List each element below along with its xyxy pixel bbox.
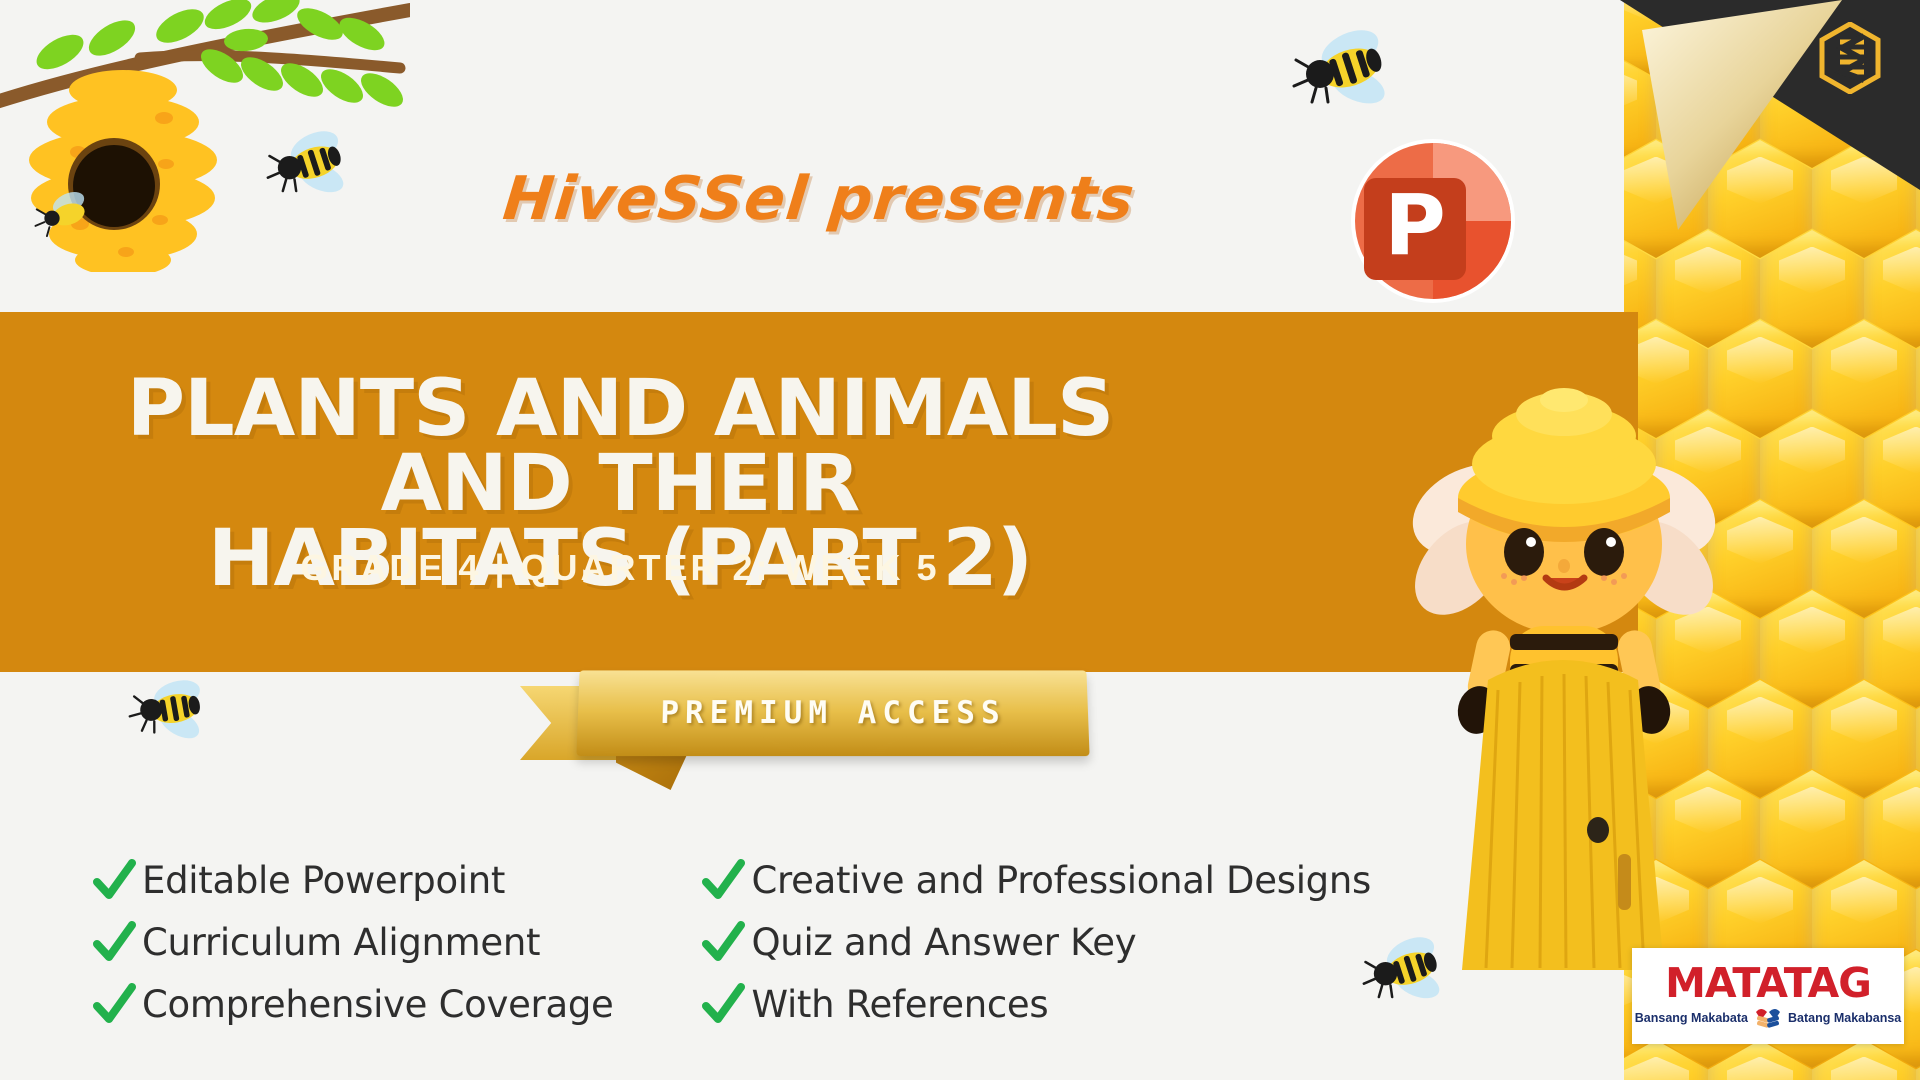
feature-label: Creative and Professional Designs: [751, 859, 1371, 902]
feature-list: Editable Powerpoint Curriculum Alignment…: [92, 858, 1512, 1026]
matatag-logo: MATATAG Bansang Makabata Batang Makabans…: [1632, 948, 1904, 1044]
flying-bee-icon: [24, 186, 94, 248]
title-band: HiveSSel presents PLANTS AND ANIMALS AND…: [0, 312, 1638, 672]
feature-label: Curriculum Alignment: [142, 921, 540, 964]
check-icon: [92, 858, 136, 902]
feature-label: Editable Powerpoint: [142, 859, 505, 902]
check-icon: [92, 982, 136, 1026]
feature-column-right: Creative and Professional Designs Quiz a…: [701, 858, 1371, 1026]
matatag-wordmark: MATATAG: [1665, 963, 1871, 1004]
matatag-tagline-left: Bansang Makabata: [1635, 1011, 1748, 1025]
hexagon-s-logo-icon: [1818, 22, 1882, 94]
list-item: Curriculum Alignment: [92, 920, 613, 964]
check-icon: [701, 858, 745, 902]
ribbon-label: PREMIUM ACCESS: [576, 670, 1089, 756]
premium-access-ribbon: PREMIUM ACCESS: [520, 660, 1120, 790]
powerpoint-letter: P: [1384, 176, 1446, 274]
microsoft-powerpoint-icon: P: [1348, 136, 1518, 306]
list-item: Comprehensive Coverage: [92, 982, 613, 1026]
list-item: Editable Powerpoint: [92, 858, 613, 902]
flying-bee-icon: [115, 666, 211, 753]
check-icon: [701, 920, 745, 964]
feature-label: Quiz and Answer Key: [751, 921, 1136, 964]
matatag-tagline: Bansang Makabata Batang Makabansa: [1635, 1006, 1901, 1030]
feature-label: Comprehensive Coverage: [142, 983, 613, 1026]
flying-bee-icon: [256, 126, 348, 206]
flying-bee-icon: [1280, 24, 1390, 120]
list-item: With References: [701, 982, 1371, 1026]
flying-bee-icon: [1352, 932, 1444, 1012]
page-title-line1: PLANTS AND ANIMALS AND THEIR: [28, 372, 1211, 522]
list-item: Quiz and Answer Key: [701, 920, 1371, 964]
poster-canvas: HiveSSel presents PLANTS AND ANIMALS AND…: [0, 0, 1920, 1080]
heart-hands-icon: [1753, 1006, 1783, 1030]
feature-label: With References: [751, 983, 1048, 1026]
check-icon: [92, 920, 136, 964]
feature-column-left: Editable Powerpoint Curriculum Alignment…: [92, 858, 613, 1026]
page-subtitle: GRADE 4 | QUARTER 2: WEEK 5: [40, 547, 1200, 589]
check-icon: [701, 982, 745, 1026]
list-item: Creative and Professional Designs: [701, 858, 1371, 902]
matatag-tagline-right: Batang Makabansa: [1788, 1011, 1901, 1025]
